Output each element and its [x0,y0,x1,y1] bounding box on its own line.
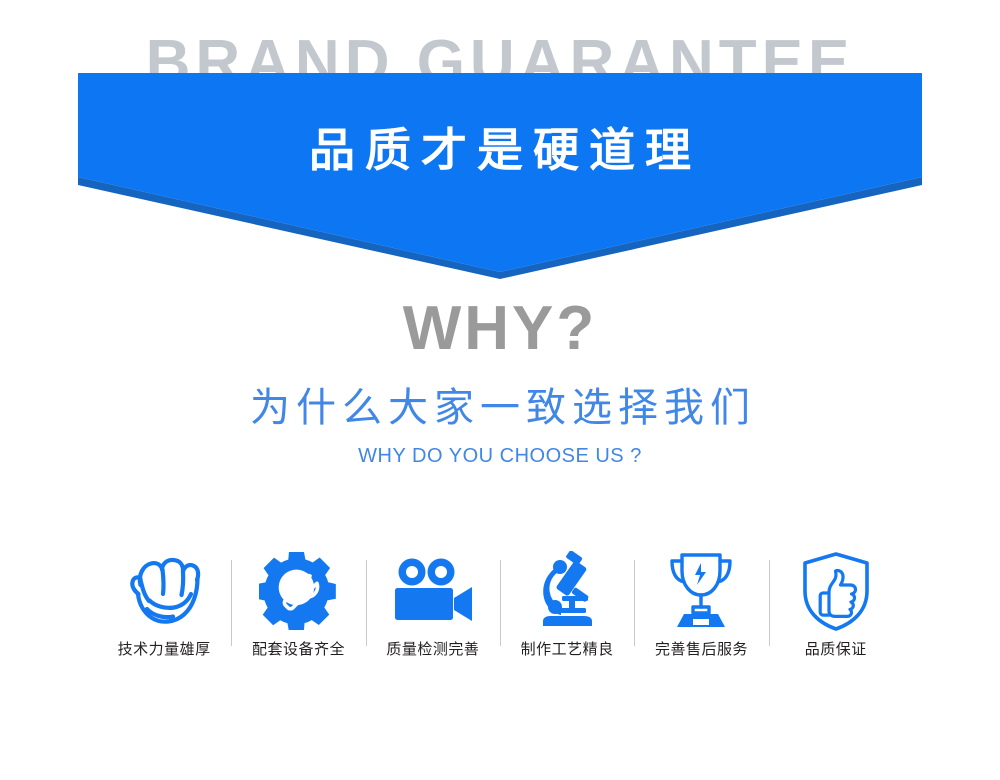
video-camera-icon [391,552,475,630]
why-title-english: WHY? [0,298,1000,360]
feature-label: 完善售后服务 [655,642,748,657]
feature-label: 技术力量雄厚 [118,642,211,657]
feature-item-after-sales-service: 完善售后服务 [634,552,768,672]
feature-item-craftsmanship: 制作工艺精良 [500,552,634,672]
why-section: WHY? 为什么大家一致选择我们 WHY DO YOU CHOOSE US ? [0,298,1000,466]
hero-banner: BRAND GUARANTEE BRAND GUARANTEE 品质才是硬道理 [0,0,1000,300]
why-title-chinese: 为什么大家一致选择我们 [0,388,1000,428]
microscope-icon [531,552,603,630]
feature-item-technical-strength: 技术力量雄厚 [97,552,231,672]
why-subtitle-english: WHY DO YOU CHOOSE US ? [0,446,1000,466]
feature-item-equipment: 配套设备齐全 [231,552,365,672]
brand-headline-chinese: 品质才是硬道理 [0,127,1000,173]
feature-icon-row: 技术力量雄厚 配套设备齐全 [97,552,903,672]
feature-item-quality-assurance: 品质保证 [769,552,903,672]
shield-thumbsup-icon [799,552,873,630]
feature-label: 配套设备齐全 [252,642,345,657]
feature-label: 制作工艺精良 [521,642,614,657]
chevron-banner-shape [78,73,922,279]
gear-wrench-icon [259,552,337,630]
fist-icon [127,552,201,630]
trophy-icon [664,552,738,630]
feature-item-quality-inspection: 质量检测完善 [366,552,500,672]
feature-label: 品质保证 [805,642,867,657]
feature-label: 质量检测完善 [386,642,479,657]
